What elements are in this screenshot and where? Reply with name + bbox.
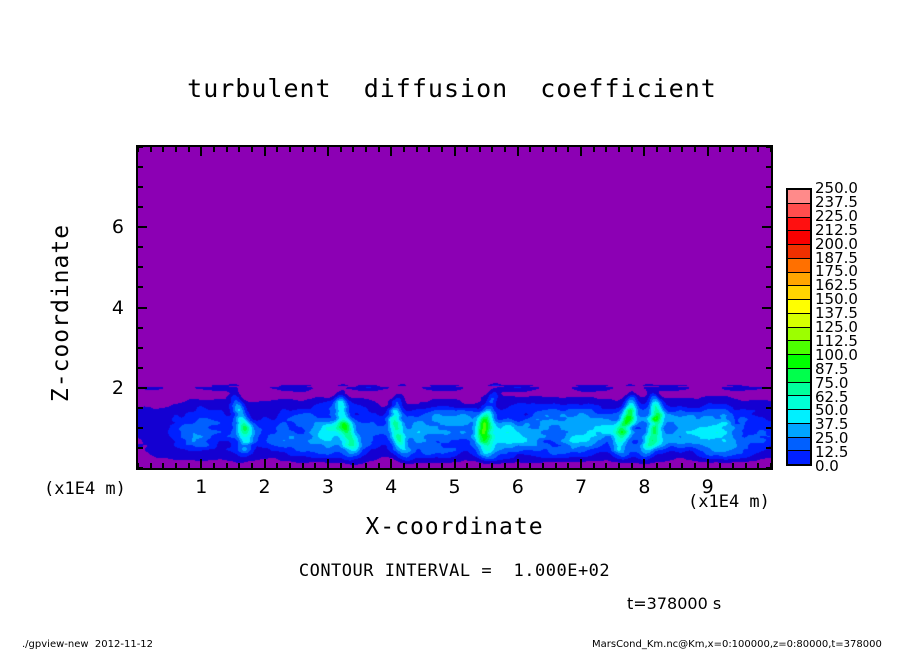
x-tick-minor-top (694, 147, 696, 152)
x-tick-minor-top (732, 147, 734, 152)
x-tick-minor-bottom (352, 463, 354, 468)
x-tick-minor-top (289, 147, 291, 152)
x-tick-major-bottom (390, 459, 392, 468)
colorbar-band (788, 438, 810, 452)
x-tick-minor-bottom (618, 463, 620, 468)
x-tick-major-top (454, 147, 456, 156)
x-tick-minor-bottom (745, 463, 747, 468)
x-tick-minor-bottom (504, 463, 506, 468)
x-tick-minor-top (656, 147, 658, 152)
x-tick-minor-top (618, 147, 620, 152)
y-tick-minor-left (138, 427, 143, 429)
x-tick-minor-bottom (314, 463, 316, 468)
x-tick-minor-top (276, 147, 278, 152)
x-tick-minor-top (150, 147, 152, 152)
y-tick-minor-left (138, 146, 143, 148)
x-tick-minor-bottom (302, 463, 304, 468)
x-tick-minor-bottom (605, 463, 607, 468)
x-tick-minor-bottom (188, 463, 190, 468)
x-tick-major-bottom (643, 459, 645, 468)
y-tick-minor-left (138, 246, 143, 248)
colorbar-band (788, 341, 810, 355)
x-tick-minor-top (302, 147, 304, 152)
x-tick-major-bottom (454, 459, 456, 468)
y-tick-minor-right (766, 286, 771, 288)
x-tick-minor-top (365, 147, 367, 152)
y-tick-minor-left (138, 467, 143, 469)
x-tick-minor-bottom (238, 463, 240, 468)
y-tick-minor-right (766, 367, 771, 369)
time-stamp-note: t=378000 s (627, 594, 721, 613)
y-tick-minor-right (766, 166, 771, 168)
x-tick-major-bottom (707, 459, 709, 468)
x-tick-minor-bottom (441, 463, 443, 468)
x-tick-minor-bottom (226, 463, 228, 468)
y-tick-label: 2 (92, 377, 124, 399)
x-tick-minor-bottom (732, 463, 734, 468)
y-tick-minor-right (766, 327, 771, 329)
footer-command-info: ./gpview-new 2012-11-12 (22, 639, 153, 650)
x-tick-major-top (200, 147, 202, 156)
x-tick-minor-top (213, 147, 215, 152)
y-tick-minor-right (766, 246, 771, 248)
x-tick-minor-top (542, 147, 544, 152)
footer-dataset-info: MarsCond_Km.nc@Km,x=0:100000,z=0:80000,t… (592, 639, 882, 650)
colorbar-label: 0.0 (815, 459, 839, 474)
x-tick-minor-top (403, 147, 405, 152)
colorbar-band (788, 259, 810, 273)
x-tick-major-top (264, 147, 266, 156)
colorbar-band (788, 328, 810, 342)
y-tick-minor-right (766, 467, 771, 469)
y-tick-minor-left (138, 206, 143, 208)
y-tick-major-right (762, 307, 771, 309)
colorbar-band (788, 245, 810, 259)
x-tick-minor-bottom (694, 463, 696, 468)
x-tick-label: 6 (498, 476, 538, 498)
x-tick-minor-top (669, 147, 671, 152)
x-tick-major-top (390, 147, 392, 156)
colorbar-band (788, 355, 810, 369)
x-tick-minor-bottom (378, 463, 380, 468)
x-tick-minor-top (251, 147, 253, 152)
x-tick-minor-top (593, 147, 595, 152)
x-tick-major-bottom (580, 459, 582, 468)
x-tick-major-bottom (200, 459, 202, 468)
x-tick-minor-top (175, 147, 177, 152)
x-tick-minor-bottom (593, 463, 595, 468)
contour-interval-note: CONTOUR INTERVAL = 1.000E+02 (136, 561, 773, 581)
y-tick-minor-left (138, 367, 143, 369)
y-tick-minor-right (766, 206, 771, 208)
x-tick-major-top (580, 147, 582, 156)
y-tick-minor-right (766, 347, 771, 349)
colorbar-band (788, 190, 810, 204)
y-tick-major-left (138, 387, 147, 389)
colorbar (786, 188, 812, 466)
colorbar-band (788, 424, 810, 438)
x-tick-minor-bottom (719, 463, 721, 468)
x-tick-minor-top (162, 147, 164, 152)
x-tick-minor-top (441, 147, 443, 152)
y-tick-minor-right (766, 186, 771, 188)
y-tick-major-left (138, 307, 147, 309)
x-tick-minor-top (567, 147, 569, 152)
x-tick-minor-top (428, 147, 430, 152)
y-tick-minor-right (766, 146, 771, 148)
x-tick-major-top (327, 147, 329, 156)
x-tick-major-top (517, 147, 519, 156)
x-tick-major-top (707, 147, 709, 156)
y-tick-minor-left (138, 186, 143, 188)
x-tick-minor-top (416, 147, 418, 152)
y-tick-major-right (762, 387, 771, 389)
y-tick-minor-left (138, 266, 143, 268)
x-tick-minor-bottom (276, 463, 278, 468)
y-tick-minor-left (138, 407, 143, 409)
x-tick-minor-bottom (479, 463, 481, 468)
x-tick-minor-top (188, 147, 190, 152)
x-tick-minor-bottom (403, 463, 405, 468)
x-tick-minor-bottom (428, 463, 430, 468)
x-tick-minor-bottom (365, 463, 367, 468)
x-tick-major-bottom (517, 459, 519, 468)
colorbar-band (788, 231, 810, 245)
y-tick-minor-right (766, 266, 771, 268)
x-tick-label: 7 (561, 476, 601, 498)
x-tick-minor-bottom (555, 463, 557, 468)
contour-field-canvas (138, 147, 771, 468)
colorbar-band (788, 410, 810, 424)
x-tick-label: 4 (371, 476, 411, 498)
y-tick-minor-right (766, 447, 771, 449)
x-tick-minor-top (681, 147, 683, 152)
x-tick-minor-top (238, 147, 240, 152)
x-axis-unit-note: (x1E4 m) (688, 492, 770, 512)
y-tick-minor-right (766, 407, 771, 409)
y-axis-title: Z-coordinate (48, 183, 74, 443)
x-tick-minor-top (631, 147, 633, 152)
x-tick-minor-bottom (150, 463, 152, 468)
x-tick-minor-bottom (757, 463, 759, 468)
x-tick-minor-bottom (567, 463, 569, 468)
x-tick-minor-top (378, 147, 380, 152)
x-axis-title: X-coordinate (136, 514, 773, 540)
plot-area (136, 145, 773, 470)
x-tick-minor-bottom (175, 463, 177, 468)
colorbar-band (788, 396, 810, 410)
x-tick-minor-top (757, 147, 759, 152)
x-tick-minor-bottom (340, 463, 342, 468)
x-tick-minor-top (745, 147, 747, 152)
x-tick-minor-top (605, 147, 607, 152)
x-tick-minor-bottom (542, 463, 544, 468)
x-tick-label: 1 (181, 476, 221, 498)
x-tick-minor-top (340, 147, 342, 152)
x-tick-minor-bottom (289, 463, 291, 468)
x-tick-minor-bottom (669, 463, 671, 468)
colorbar-band (788, 286, 810, 300)
x-tick-minor-bottom (631, 463, 633, 468)
x-tick-minor-bottom (681, 463, 683, 468)
y-tick-label: 4 (92, 297, 124, 319)
figure-title: turbulent diffusion coefficient (0, 74, 904, 103)
x-tick-minor-bottom (162, 463, 164, 468)
x-tick-minor-top (479, 147, 481, 152)
y-tick-minor-left (138, 327, 143, 329)
x-tick-minor-top (719, 147, 721, 152)
x-tick-label: 2 (245, 476, 285, 498)
y-tick-label: 6 (92, 216, 124, 238)
colorbar-band (788, 273, 810, 287)
gpview-figure-window: turbulent diffusion coefficient 12345678… (0, 0, 904, 654)
y-tick-minor-left (138, 286, 143, 288)
x-tick-minor-top (555, 147, 557, 152)
x-tick-minor-bottom (213, 463, 215, 468)
x-tick-major-bottom (327, 459, 329, 468)
x-tick-minor-top (352, 147, 354, 152)
x-tick-minor-top (504, 147, 506, 152)
colorbar-band (788, 314, 810, 328)
x-tick-minor-top (314, 147, 316, 152)
x-tick-minor-top (226, 147, 228, 152)
x-tick-major-bottom (264, 459, 266, 468)
x-tick-minor-top (491, 147, 493, 152)
x-tick-major-top (643, 147, 645, 156)
y-axis-unit-note: (x1E4 m) (44, 479, 126, 499)
y-tick-minor-left (138, 447, 143, 449)
x-tick-minor-bottom (251, 463, 253, 468)
y-tick-minor-left (138, 347, 143, 349)
y-tick-major-right (762, 226, 771, 228)
colorbar-band (788, 451, 810, 464)
x-tick-label: 3 (308, 476, 348, 498)
colorbar-band (788, 204, 810, 218)
y-tick-minor-left (138, 166, 143, 168)
colorbar-band (788, 369, 810, 383)
colorbar-tick-labels: 250.0237.5225.0212.5200.0187.5175.0162.5… (815, 180, 895, 476)
x-tick-minor-bottom (529, 463, 531, 468)
x-tick-minor-bottom (466, 463, 468, 468)
x-tick-minor-top (529, 147, 531, 152)
x-tick-minor-bottom (491, 463, 493, 468)
y-tick-minor-right (766, 427, 771, 429)
x-tick-label: 8 (624, 476, 664, 498)
x-tick-minor-bottom (656, 463, 658, 468)
colorbar-band (788, 300, 810, 314)
x-tick-minor-bottom (416, 463, 418, 468)
y-tick-major-left (138, 226, 147, 228)
colorbar-band (788, 383, 810, 397)
colorbar-band (788, 218, 810, 232)
x-tick-minor-top (466, 147, 468, 152)
x-tick-label: 5 (435, 476, 475, 498)
